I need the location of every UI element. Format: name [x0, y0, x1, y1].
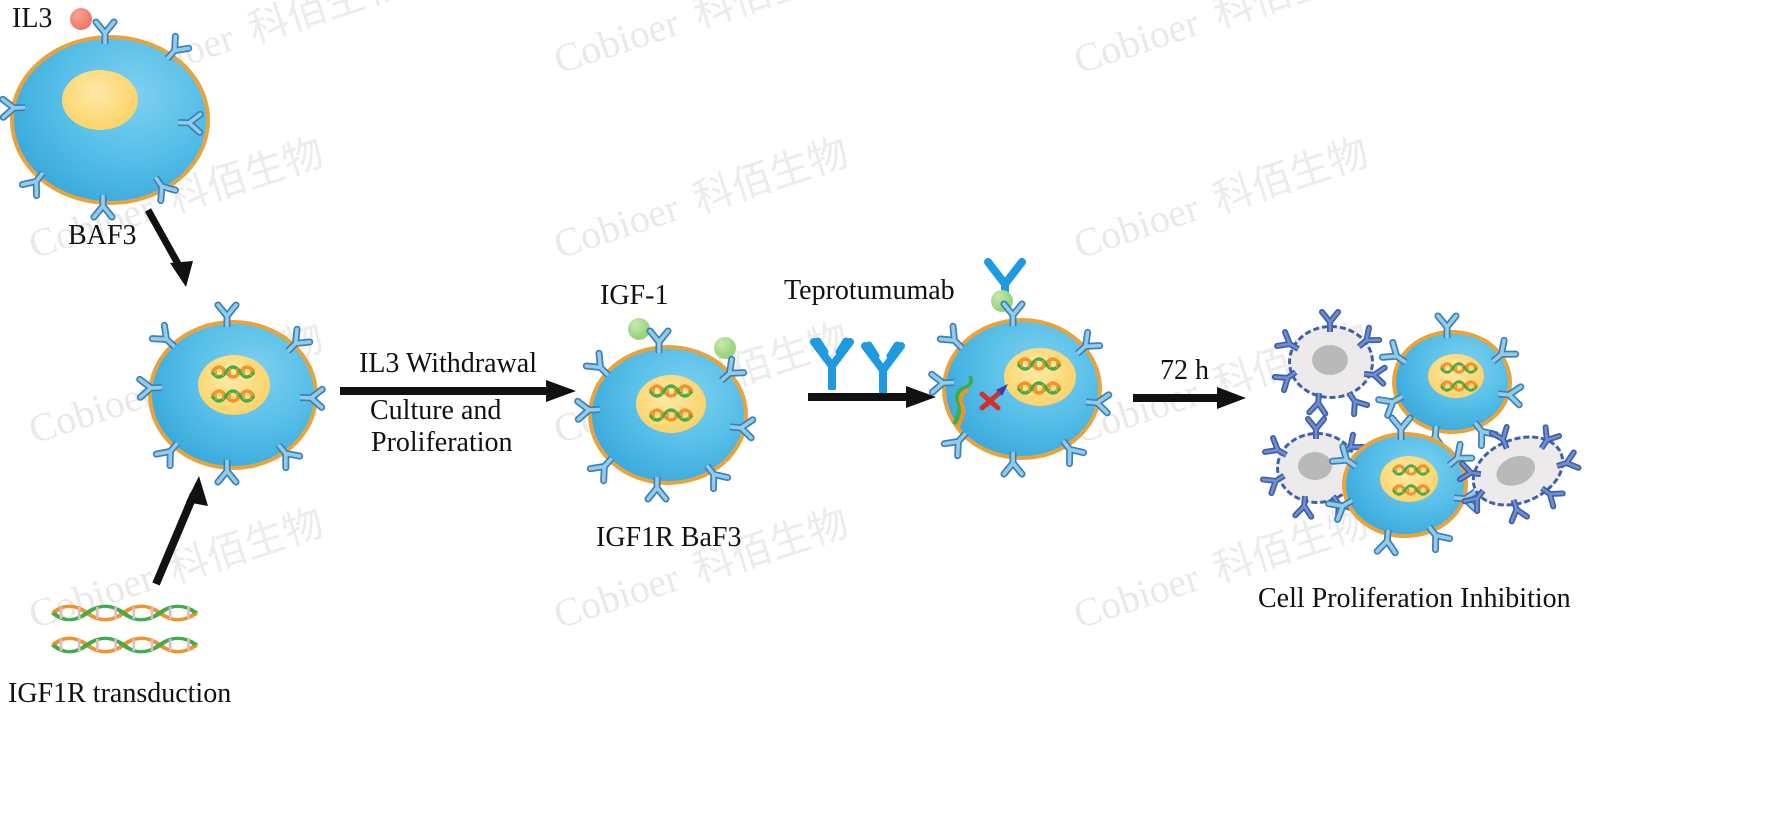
label-igf1r-transduction: IGF1R transduction	[8, 680, 231, 708]
dna-icon	[644, 381, 698, 401]
receptor-icon	[214, 301, 240, 327]
arrow-transduction	[142, 460, 222, 590]
blocked-signal-icon	[948, 376, 1058, 436]
arrow-72h	[1133, 385, 1248, 411]
receptor-icon	[1373, 529, 1401, 557]
diagram-canvas: Cobioer科佰生物 Cobioer科佰生物 Cobioer科佰生物 Cobi…	[0, 0, 1776, 813]
cell-igf1r-transduced	[148, 320, 318, 470]
dna-icon	[1436, 378, 1482, 395]
cell-igf1r-baf3	[588, 345, 748, 485]
receptor-icon	[90, 195, 116, 221]
dna-icon	[1436, 360, 1482, 377]
label-culture-line2: Proliferation	[371, 429, 513, 457]
receptor-icon	[574, 397, 601, 424]
label-culture-line1: Culture and	[370, 397, 501, 425]
label-72h: 72 h	[1160, 357, 1209, 385]
nucleus	[62, 70, 138, 130]
receptor-icon	[178, 110, 205, 137]
cell-baf3	[10, 35, 210, 205]
dna-icon	[1012, 354, 1066, 374]
receptor-icon	[0, 95, 25, 122]
receptor-icon	[729, 414, 757, 442]
receptor-icon	[1455, 459, 1482, 486]
receptor-icon	[928, 370, 955, 397]
label-igf1r-baf3: IGF1R BaF3	[596, 524, 741, 552]
apoptotic-cell	[1288, 325, 1374, 399]
dna-icon	[644, 405, 698, 425]
arrow-teprotumumab-treatment	[808, 384, 938, 410]
dna-icon	[206, 362, 260, 382]
receptor-icon	[1291, 495, 1317, 521]
label-teprotumumab: Teprotumumab	[784, 277, 955, 305]
receptor-icon	[92, 18, 118, 44]
receptor-icon	[1000, 452, 1026, 478]
dna-icon	[1388, 482, 1434, 499]
receptor-icon	[1000, 300, 1026, 326]
antibody-icon	[805, 336, 859, 390]
cell-blocked-igf1r-baf3	[942, 318, 1102, 460]
dead-cell-nucleus	[1298, 452, 1332, 480]
dna-icon	[1388, 462, 1434, 479]
receptor-icon	[644, 477, 670, 503]
label-il3: IL3	[12, 5, 52, 33]
receptor-icon	[1318, 308, 1342, 332]
receptor-icon	[1363, 362, 1389, 388]
receptor-icon	[1085, 389, 1113, 417]
label-baf3: BAF3	[68, 222, 136, 250]
receptor-icon	[136, 375, 163, 402]
dna-icon	[206, 386, 260, 406]
receptor-icon	[1388, 414, 1414, 440]
dna-construct-icon	[48, 596, 198, 666]
il3-ligand-icon	[70, 8, 92, 30]
label-il3-withdrawal: IL3 Withdrawal	[359, 350, 537, 378]
receptor-icon	[1304, 415, 1328, 439]
cell-residual-bottom	[1342, 432, 1468, 538]
label-cell-proliferation-inhibition: Cell Proliferation Inhibition	[1258, 585, 1571, 613]
dead-cell-nucleus	[1312, 345, 1348, 375]
receptor-icon	[1434, 312, 1460, 338]
receptor-icon	[1497, 381, 1525, 409]
arrow-baf3-to-igf1r	[140, 205, 210, 295]
label-igf1: IGF-1	[600, 282, 668, 310]
receptor-icon	[646, 327, 672, 353]
receptor-icon	[300, 385, 327, 412]
